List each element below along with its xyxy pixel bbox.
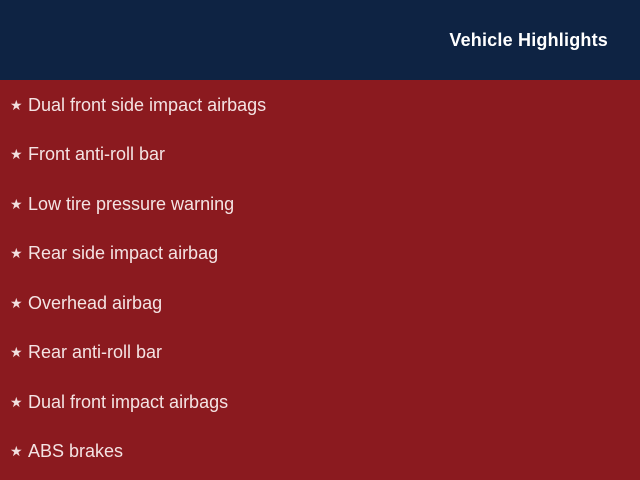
list-item: ★Rear side impact airbag xyxy=(0,229,640,279)
star-icon: ★ xyxy=(10,197,26,211)
list-item: ★Dual front impact airbags xyxy=(0,377,640,427)
list-item: ★Rear anti-roll bar xyxy=(0,328,640,378)
list-item-label: Front anti-roll bar xyxy=(26,143,165,165)
list-item: ★Low tire pressure warning xyxy=(0,179,640,229)
star-icon: ★ xyxy=(10,345,26,359)
list-item: ★Overhead airbag xyxy=(0,278,640,328)
highlights-list: ★Dual front side impact airbags★Front an… xyxy=(0,80,640,476)
star-icon: ★ xyxy=(10,296,26,310)
list-item: ★ABS brakes xyxy=(0,427,640,477)
list-item-label: Dual front impact airbags xyxy=(26,391,228,413)
list-item-label: Rear side impact airbag xyxy=(26,242,218,264)
star-icon: ★ xyxy=(10,98,26,112)
list-item-label: Low tire pressure warning xyxy=(26,193,234,215)
star-icon: ★ xyxy=(10,147,26,161)
header-bar: Vehicle Highlights xyxy=(0,0,640,80)
highlights-panel: ★Dual front side impact airbags★Front an… xyxy=(0,80,640,480)
vehicle-highlights-screen: Vehicle Highlights ★Dual front side impa… xyxy=(0,0,640,480)
star-icon: ★ xyxy=(10,246,26,260)
list-item-label: ABS brakes xyxy=(26,440,123,462)
list-item: ★Front anti-roll bar xyxy=(0,130,640,180)
list-item-label: Rear anti-roll bar xyxy=(26,341,162,363)
star-icon: ★ xyxy=(10,395,26,409)
page-title: Vehicle Highlights xyxy=(449,29,608,51)
list-item-label: Overhead airbag xyxy=(26,292,162,314)
list-item-label: Dual front side impact airbags xyxy=(26,94,266,116)
list-item: ★Dual front side impact airbags xyxy=(0,80,640,130)
star-icon: ★ xyxy=(10,444,26,458)
